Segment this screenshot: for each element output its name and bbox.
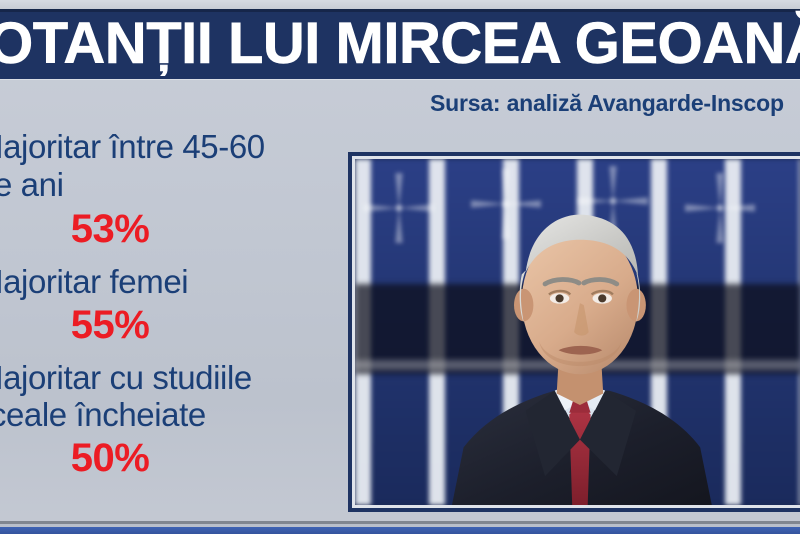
infographic-slide: VOTANȚII LUI MIRCEA GEOANĂ Sursa: analiz… <box>0 0 800 534</box>
bottom-blue-strip <box>0 527 800 534</box>
headline-text: VOTANȚII LUI MIRCEA GEOANĂ <box>0 15 800 73</box>
stat-value-gender: 55% <box>0 303 246 347</box>
portrait-photo <box>355 159 800 505</box>
stat-label-age: Majoritar între 45-60 de ani <box>0 128 274 203</box>
person-portrait-graphic <box>355 159 800 505</box>
statistics-column: Majoritar între 45-60 de ani 53% Majorit… <box>0 128 274 482</box>
photo-frame-inner-gap <box>352 156 800 508</box>
stat-item-education: Majoritar cu studiile liceale încheiate … <box>0 359 274 480</box>
stat-item-age: Majoritar între 45-60 de ani 53% <box>0 128 274 251</box>
stat-item-gender: Majoritar femei 55% <box>0 263 274 347</box>
stat-value-age: 53% <box>0 207 246 251</box>
top-strip <box>0 0 800 9</box>
stat-value-education: 50% <box>0 436 246 480</box>
stat-label-gender: Majoritar femei <box>0 263 274 301</box>
stat-label-education: Majoritar cu studiile liceale încheiate <box>0 359 274 434</box>
photo-frame <box>348 152 800 512</box>
source-attribution: Sursa: analiză Avangarde-Inscop <box>430 90 784 117</box>
headline-banner: VOTANȚII LUI MIRCEA GEOANĂ <box>0 9 800 79</box>
